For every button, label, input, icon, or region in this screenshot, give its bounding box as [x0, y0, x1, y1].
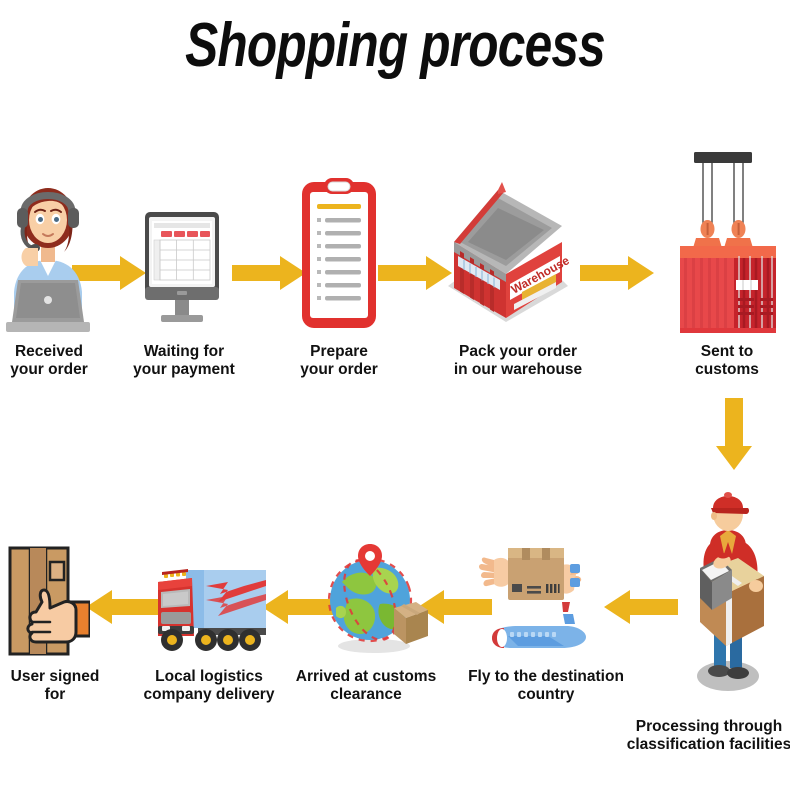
step-label-processing-through-classification-facilities: Processing through classification facili… — [620, 718, 790, 753]
step-label-arrived-at-customs-clearance: Arrived at customs clearance — [276, 668, 456, 703]
step-icon-received-your-order — [4, 172, 92, 332]
step-label-pack-your-order-in-our-warehouse: Pack your order in our warehouse — [432, 343, 604, 378]
step-label-local-logistics-company-delivery: Local logistics company delivery — [124, 668, 294, 703]
crane-shipping-container-icon — [672, 152, 784, 336]
arrow-down-connector — [716, 398, 752, 470]
arrow-right-2 — [232, 256, 306, 290]
globe-parcel-icon — [318, 538, 430, 656]
step-icon-arrived-at-customs-clearance — [318, 538, 430, 656]
door-hand-signed-icon — [6, 546, 90, 656]
headset-agent-laptop-icon — [4, 172, 92, 332]
step-icon-fly-to-the-destination-country — [478, 540, 612, 660]
shopping-process-diagram: Shopping process — [0, 0, 790, 790]
page-title: Shopping process — [79, 14, 711, 78]
step-icon-local-logistics-company-delivery — [148, 552, 268, 658]
step-icon-prepare-your-order — [300, 178, 378, 330]
step-icon-sent-to-customs — [672, 152, 784, 336]
arrow-left-1 — [604, 590, 678, 624]
warehouse-building-icon: Warehouse — [440, 182, 576, 332]
step-label-waiting-for-your-payment: Waiting for your payment — [120, 343, 248, 378]
clipboard-checklist-icon — [300, 178, 378, 330]
step-label-sent-to-customs: Sent to customs — [668, 343, 786, 378]
airplane-handoff-parcel-icon — [478, 540, 612, 660]
arrow-right-4 — [580, 256, 654, 290]
step-label-received-your-order: Received your order — [0, 343, 98, 378]
step-icon-processing-through-classification-facilities — [676, 480, 780, 696]
step-icon-user-signed-for — [6, 546, 90, 656]
step-label-user-signed-for: User signed for — [0, 668, 110, 703]
step-label-prepare-your-order: Prepare your order — [283, 343, 395, 378]
step-icon-pack-your-order-in-our-warehouse: Warehouse — [440, 182, 576, 332]
step-label-fly-to-the-destination-country: Fly to the destination country — [448, 668, 644, 703]
step-icon-waiting-for-your-payment — [139, 212, 225, 332]
delivery-worker-parcel-icon — [676, 480, 780, 696]
desktop-monitor-spreadsheet-icon — [139, 212, 225, 332]
delivery-truck-icon — [148, 552, 268, 658]
